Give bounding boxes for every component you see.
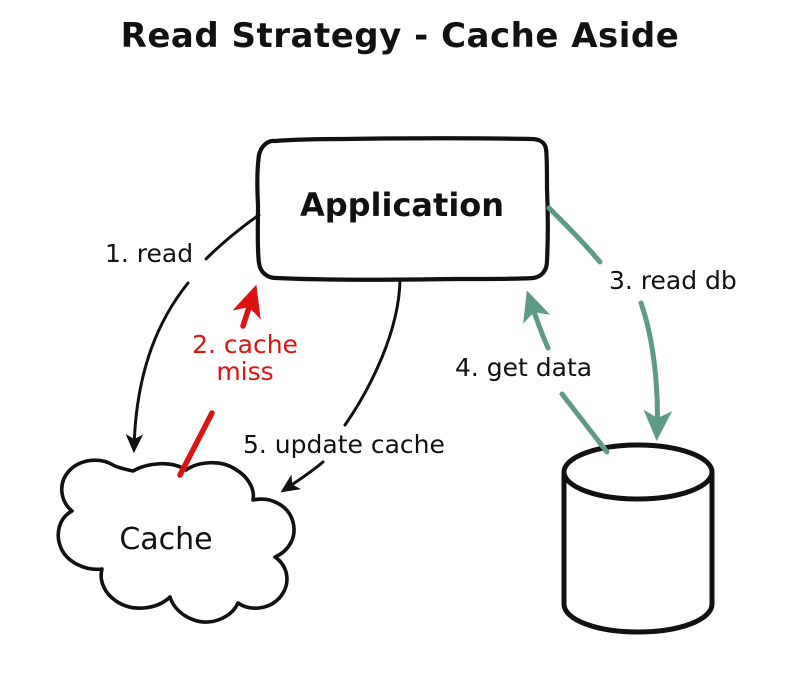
diagram-svg <box>0 0 800 692</box>
database-top-ellipse <box>564 445 712 499</box>
step-2-label-line1: 2. cache <box>192 330 298 359</box>
arrow-step-3-segment-a <box>549 208 600 262</box>
step-1-label: 1. read <box>105 240 193 267</box>
arrow-step-4-segment-a <box>562 394 607 452</box>
page-title: Read Strategy - Cache Aside <box>0 18 800 55</box>
step-3-label: 3. read db <box>609 267 737 294</box>
arrow-step-1-segment-a <box>206 215 259 259</box>
arrow-step-5-segment-a <box>345 280 400 425</box>
step-2-label-line2: miss <box>216 357 273 386</box>
database-bottom <box>564 604 712 632</box>
arrow-step-3-segment-b <box>641 303 657 434</box>
step-2-label: 2. cachemiss <box>180 331 310 385</box>
arrow-step-5-segment-b <box>284 462 323 490</box>
application-label: Application <box>257 188 547 223</box>
step-4-label: 4. get data <box>455 354 592 381</box>
arrow-step-2-segment-b <box>243 292 254 326</box>
diagram-canvas: Read Strategy - Cache Aside Application … <box>0 0 800 692</box>
arrow-step-4-segment-b <box>529 297 548 348</box>
cache-label: Cache <box>37 524 295 556</box>
database-node[interactable] <box>564 445 712 632</box>
step-5-label: 5. update cache <box>243 431 445 458</box>
